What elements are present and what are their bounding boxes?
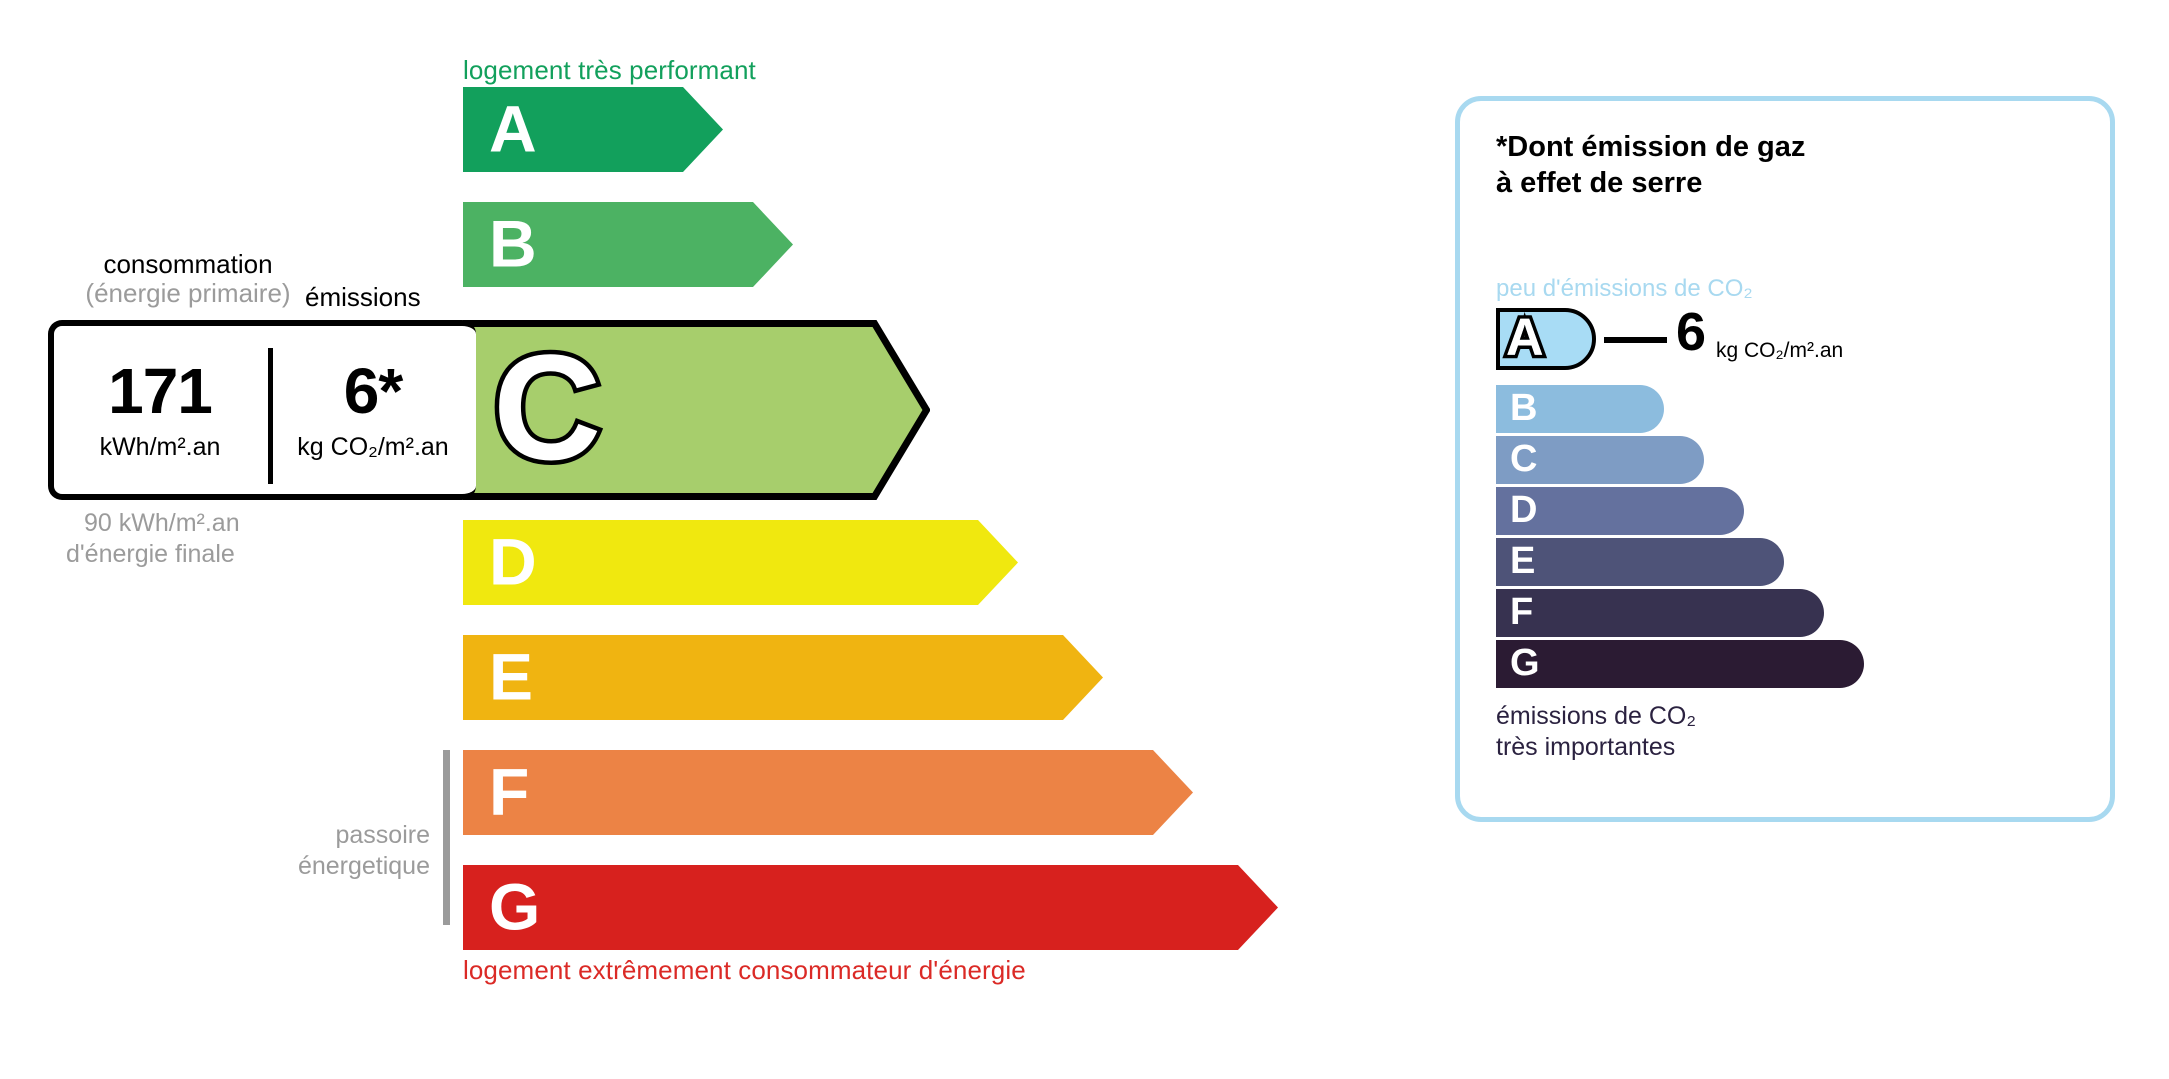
ghg-connector-line xyxy=(1604,337,1667,343)
energy-band-letter-c: C xyxy=(493,332,601,482)
emissions-label: émissions xyxy=(305,282,421,313)
ghg-title-line2: à effet de serre xyxy=(1496,167,1702,199)
passoire-bracket xyxy=(443,750,450,925)
passoire-line1: passoire xyxy=(336,821,431,849)
energy-band-a: A xyxy=(463,87,723,172)
energy-band-arrow-e xyxy=(463,635,1103,720)
ghg-badge-letter: A xyxy=(1506,311,1544,363)
energy-band-letter-g: G xyxy=(489,873,540,939)
ghg-bottom-line1: émissions de CO₂ xyxy=(1496,702,1696,730)
energy-band-letter-d: D xyxy=(489,528,537,594)
emission-unit: kg CO₂/m².an xyxy=(297,433,448,462)
energy-band-letter-a: A xyxy=(489,95,537,161)
energy-band-d: D xyxy=(463,520,1018,605)
final-energy-label: 90 kWh/m².an d'énergie finale xyxy=(66,508,240,571)
ghg-panel-title: *Dont émission de gaz à effet de serre xyxy=(1496,129,1805,202)
ghg-bar-b: B xyxy=(1496,385,1664,433)
energy-performance-scale: logement très performant ABCDEFG consomm… xyxy=(0,0,1350,1079)
energy-band-letter-b: B xyxy=(489,210,537,276)
energy-band-arrow-d xyxy=(463,520,1018,605)
value-box: 171 kWh/m².an 6* kg CO₂/m².an xyxy=(48,320,476,500)
ghg-bar-letter-b: B xyxy=(1510,389,1537,427)
ghg-value: 6 xyxy=(1676,305,1706,359)
ghg-emissions-panel: *Dont émission de gaz à effet de serre p… xyxy=(1455,96,2115,822)
ghg-bar-d: D xyxy=(1496,487,1744,535)
energy-band-c: C xyxy=(463,320,930,500)
ghg-active-badge-a: A A xyxy=(1496,308,1596,370)
consumption-label-sub: (énergie primaire) xyxy=(68,279,308,308)
energy-band-e: E xyxy=(463,635,1103,720)
ghg-bottom-line2: très importantes xyxy=(1496,733,1675,761)
final-energy-line2: d'énergie finale xyxy=(66,540,235,568)
ghg-title-line1: *Dont émission de gaz xyxy=(1496,131,1805,163)
consumption-value: 171 xyxy=(108,359,212,423)
passoire-line2: énergetique xyxy=(298,852,430,880)
ghg-bar-letter-e: E xyxy=(1510,542,1535,580)
energy-band-arrow-g xyxy=(463,865,1278,950)
energy-band-arrow-f xyxy=(463,750,1193,835)
ghg-top-caption: peu d'émissions de CO₂ xyxy=(1496,275,1753,303)
energy-band-b: B xyxy=(463,202,793,287)
passoire-label: passoire énergetique xyxy=(250,820,430,883)
ghg-bar-c: C xyxy=(1496,436,1704,484)
ghg-bottom-caption: émissions de CO₂ très importantes xyxy=(1496,701,1696,764)
consumption-unit: kWh/m².an xyxy=(100,433,221,462)
energy-band-f: F xyxy=(463,750,1193,835)
energy-band-g: G xyxy=(463,865,1278,950)
energy-band-letter-f: F xyxy=(489,758,529,824)
ghg-bar-letter-f: F xyxy=(1510,593,1533,631)
emission-cell: 6* kg CO₂/m².an xyxy=(270,326,476,494)
ghg-bar-letter-d: D xyxy=(1510,491,1537,529)
consumption-label: consommation (énergie primaire) xyxy=(68,250,308,308)
scale-top-caption: logement très performant xyxy=(463,55,756,86)
ghg-bar-letter-g: G xyxy=(1510,644,1540,682)
scale-bottom-caption: logement extrêmement consommateur d'éner… xyxy=(463,955,1026,986)
energy-band-letter-e: E xyxy=(489,643,533,709)
ghg-bar-e: E xyxy=(1496,538,1784,586)
final-energy-line1: 90 kWh/m².an xyxy=(66,508,240,539)
ghg-bar-letter-c: C xyxy=(1510,440,1537,478)
ghg-bar-f: F xyxy=(1496,589,1824,637)
consumption-cell: 171 kWh/m².an xyxy=(54,326,266,494)
emission-value: 6* xyxy=(344,359,403,423)
ghg-bar-g: G xyxy=(1496,640,1864,688)
consumption-label-main: consommation xyxy=(103,249,272,279)
ghg-value-unit: kg CO₂/m².an xyxy=(1716,339,1843,363)
